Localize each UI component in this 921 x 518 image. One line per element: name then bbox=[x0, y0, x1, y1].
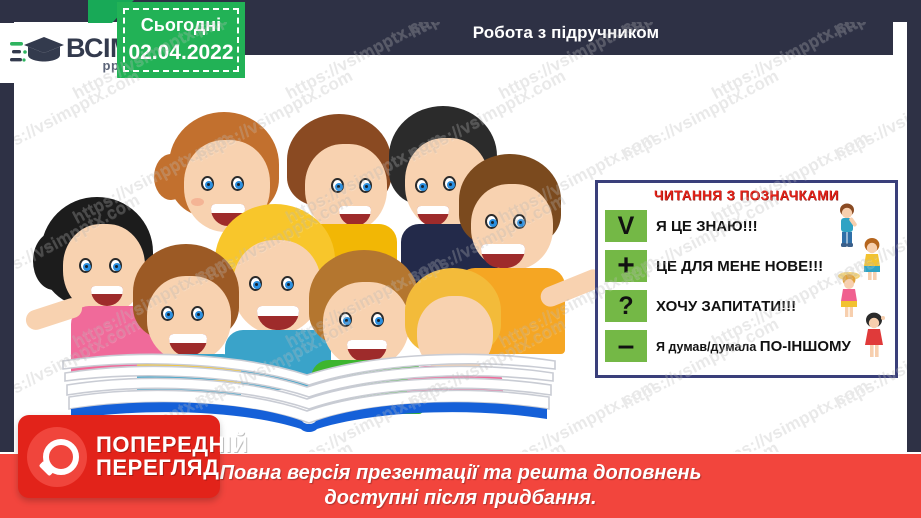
slide-header-bar: Робота з підручником bbox=[239, 11, 893, 55]
mark-label-new: ЦЕ ДЛЯ МЕНЕ НОВЕ!!! bbox=[656, 258, 823, 275]
mark-label-thought-strong: ПО-ІНШОМУ bbox=[760, 338, 851, 355]
preview-badge: ПОПЕРЕДНІЙ ПЕРЕГЛЯД bbox=[18, 415, 220, 498]
mark-symbol-check: V bbox=[605, 210, 647, 242]
date-badge-label: Сьогодні bbox=[141, 15, 221, 36]
mark-label-know: Я ЦЕ ЗНАЮ!!! bbox=[656, 218, 758, 235]
mark-row-thought: – Я думав/думала ПО-ІНШОМУ bbox=[605, 327, 888, 365]
mark-label-thought: Я думав/думала ПО-ІНШОМУ bbox=[656, 338, 851, 355]
date-badge-value: 02.04.2022 bbox=[128, 41, 233, 65]
mark-label-thought-prefix: Я думав/думала bbox=[656, 340, 760, 354]
date-badge: Сьогодні 02.04.2022 bbox=[117, 2, 245, 78]
children-illustration bbox=[19, 92, 589, 432]
purchase-notice-line1: Повна версія презентації та решта доповн… bbox=[220, 461, 702, 486]
preview-badge-line2: ПЕРЕГЛЯД bbox=[96, 457, 248, 479]
mark-label-ask: ХОЧУ ЗАПИТАТИ!!! bbox=[656, 298, 796, 315]
mark-row-know: V Я ЦЕ ЗНАЮ!!! bbox=[605, 207, 888, 245]
reading-marks-title: ЧИТАННЯ З ПОЗНАЧКАМИ bbox=[605, 188, 888, 203]
magnifier-icon bbox=[27, 427, 87, 487]
graduation-cap-icon bbox=[10, 33, 64, 73]
purchase-notice-line2: доступні після придбання. bbox=[324, 486, 596, 511]
watermark-text: https://vsimpptx.com bbox=[831, 66, 907, 166]
mark-symbol-plus: + bbox=[605, 250, 647, 282]
mark-symbol-minus: – bbox=[605, 330, 647, 362]
mini-girl-red-icon bbox=[858, 311, 890, 365]
preview-badge-line1: ПОПЕРЕДНІЙ bbox=[96, 434, 248, 456]
preview-badge-text: ПОПЕРЕДНІЙ ПЕРЕГЛЯД bbox=[96, 434, 248, 479]
slide-title: Робота з підручником bbox=[473, 23, 659, 43]
watermark-text: https://vsimpptx.com bbox=[618, 66, 782, 166]
reading-marks-panel: ЧИТАННЯ З ПОЗНАЧКАМИ V Я ЦЕ ЗНАЮ!!! + ЦЕ… bbox=[595, 180, 898, 378]
mark-row-ask: ? ХОЧУ ЗАПИТАТИ!!! bbox=[605, 287, 888, 325]
mark-symbol-question: ? bbox=[605, 290, 647, 322]
